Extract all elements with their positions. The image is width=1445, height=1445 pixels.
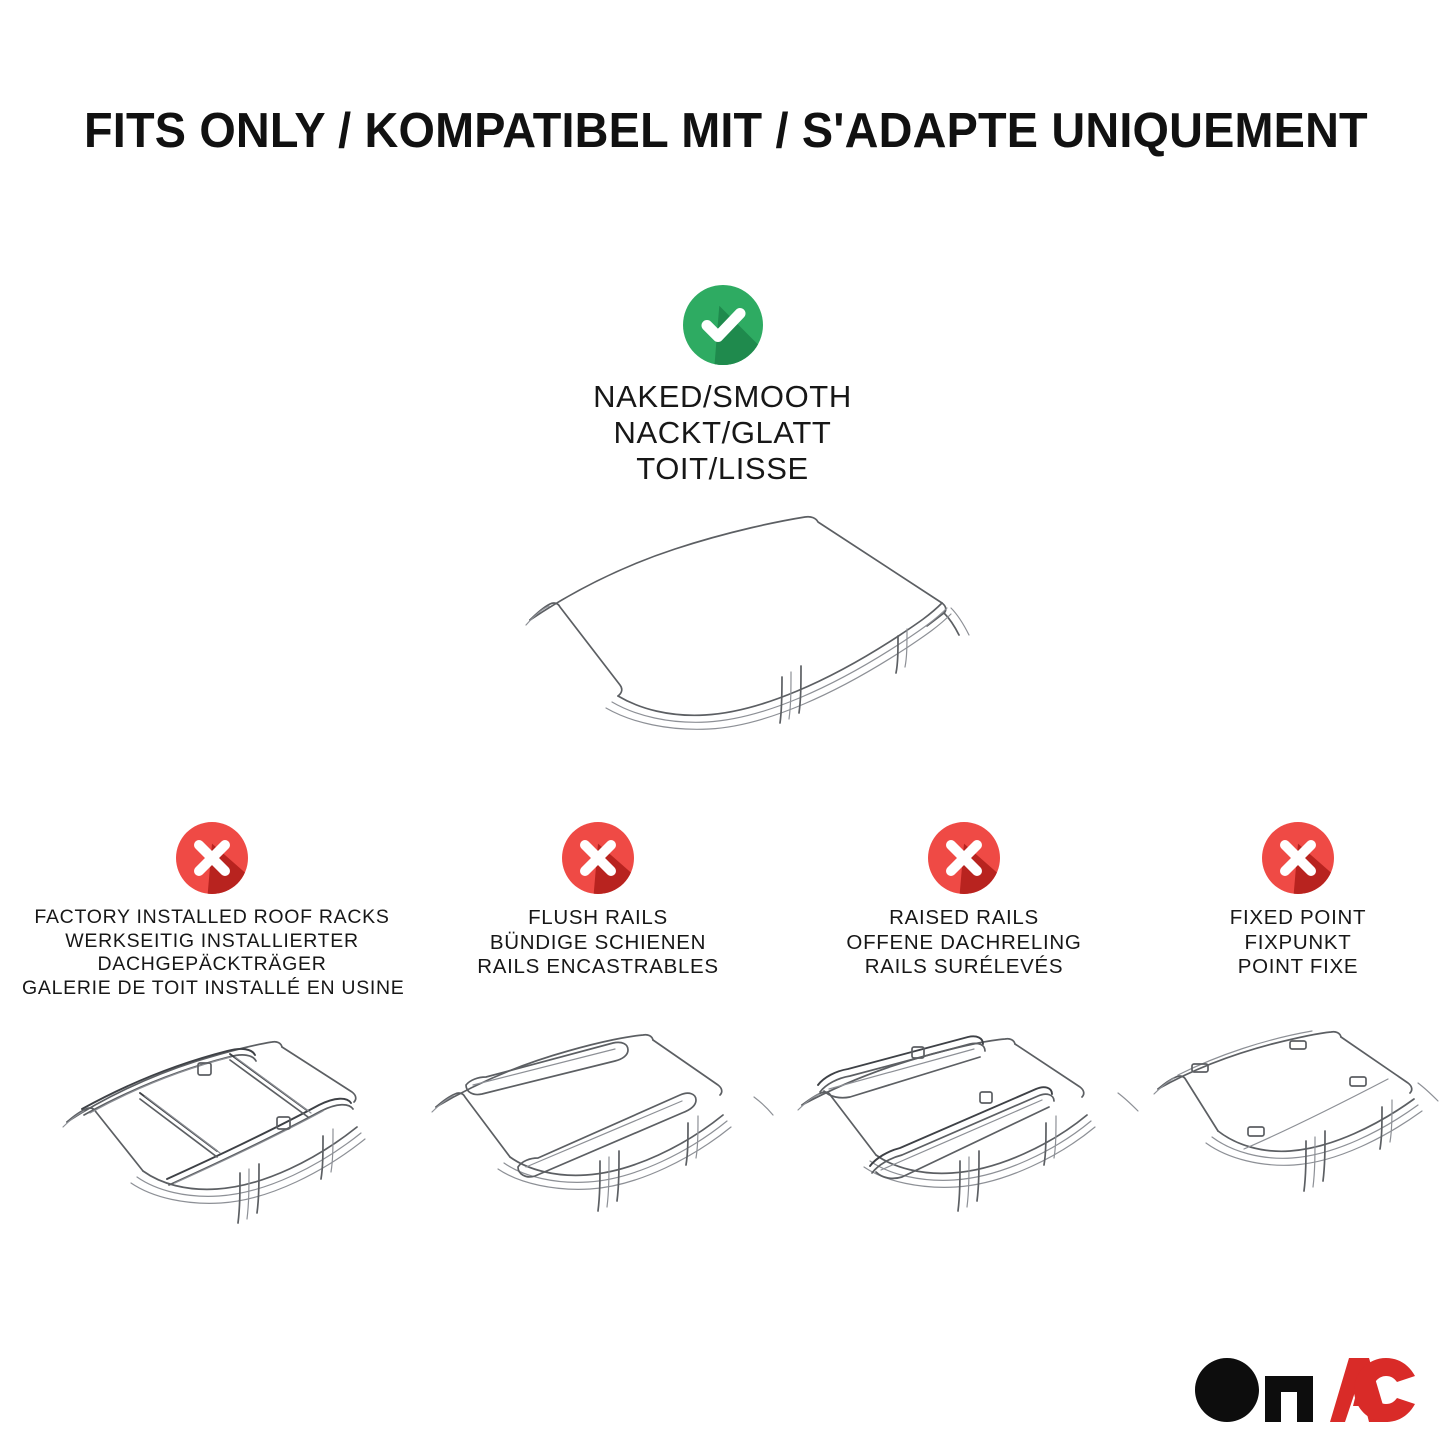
x-glyph [562, 822, 634, 894]
approved-caption-line-3: TOIT/LISSE [0, 451, 1445, 487]
factory-roof-racks-icon-wrap [176, 822, 248, 894]
red-x-circle-icon [562, 822, 634, 894]
caption-line-3: POINT FIXE [1152, 955, 1444, 980]
red-x-circle-icon [1262, 822, 1334, 894]
caption-line-4: GALERIE DE TOIT INSTALLÉ EN USINE [22, 977, 402, 1001]
caption-line-1: FLUSH RAILS [420, 906, 776, 931]
raised-rails-icon-wrap [928, 822, 1000, 894]
fixed-point-icon-wrap [1262, 822, 1334, 894]
flush-rails-icon-wrap [562, 822, 634, 894]
x-glyph [176, 822, 248, 894]
caption-line-2: BÜNDIGE SCHIENEN [420, 931, 776, 956]
page-title: FITS ONLY / KOMPATIBEL MIT / S'ADAPTE UN… [84, 103, 1326, 159]
omac-logo [1193, 1356, 1417, 1424]
logo-letter-m [1265, 1358, 1313, 1422]
rejected-item-flush-rails: FLUSH RAILS BÜNDIGE SCHIENEN RAILS ENCAS… [420, 822, 776, 980]
rejected-item-fixed-point: FIXED POINT FIXPUNKT POINT FIXE [1152, 822, 1444, 980]
approved-caption-line-2: NACKT/GLATT [0, 415, 1445, 451]
rejected-roof-types-row: FACTORY INSTALLED ROOF RACKS WERKSEITIG … [0, 822, 1445, 1252]
caption-line-2: OFFENE DACHRELING [788, 931, 1140, 956]
red-x-circle-icon [928, 822, 1000, 894]
x-glyph [1262, 822, 1334, 894]
factory-roof-racks-caption: FACTORY INSTALLED ROOF RACKS WERKSEITIG … [22, 906, 402, 1000]
logo-letter-o [1195, 1358, 1259, 1422]
caption-line-1: FIXED POINT [1152, 906, 1444, 931]
factory-roof-rack-illustration [27, 1027, 397, 1247]
caption-line-2: WERKSEITIG INSTALLIERTER [22, 930, 402, 954]
caption-line-1: RAISED RAILS [788, 906, 1140, 931]
fixed-point-illustration [1148, 1027, 1445, 1247]
omac-logo-mark [1193, 1356, 1417, 1424]
approved-roof-type-block: NAKED/SMOOTH NACKT/GLATT TOIT/LISSE [0, 285, 1445, 487]
raised-rails-illustration [784, 1027, 1144, 1247]
x-glyph [928, 822, 1000, 894]
approved-caption: NAKED/SMOOTH NACKT/GLATT TOIT/LISSE [0, 379, 1445, 487]
caption-line-3: RAILS ENCASTRABLES [420, 955, 776, 980]
caption-line-3: DACHGEPÄCKTRÄGER [22, 953, 402, 977]
caption-line-1: FACTORY INSTALLED ROOF RACKS [22, 906, 402, 930]
check-glyph [683, 285, 763, 365]
caption-line-3: RAILS SURÉLEVÉS [788, 955, 1140, 980]
flush-rails-illustration [418, 1027, 778, 1247]
approved-icon-wrap [683, 285, 763, 365]
smooth-roof-illustration [430, 495, 1030, 745]
rejected-item-raised-rails: RAISED RAILS OFFENE DACHRELING RAILS SUR… [788, 822, 1140, 980]
raised-rails-caption: RAISED RAILS OFFENE DACHRELING RAILS SUR… [788, 906, 1140, 980]
flush-rails-caption: FLUSH RAILS BÜNDIGE SCHIENEN RAILS ENCAS… [420, 906, 776, 980]
red-x-circle-icon [176, 822, 248, 894]
green-check-circle-icon [683, 285, 763, 365]
rejected-item-factory-roof-racks: FACTORY INSTALLED ROOF RACKS WERKSEITIG … [22, 822, 402, 1000]
fixed-point-caption: FIXED POINT FIXPUNKT POINT FIXE [1152, 906, 1444, 980]
approved-caption-line-1: NAKED/SMOOTH [0, 379, 1445, 415]
caption-line-2: FIXPUNKT [1152, 931, 1444, 956]
